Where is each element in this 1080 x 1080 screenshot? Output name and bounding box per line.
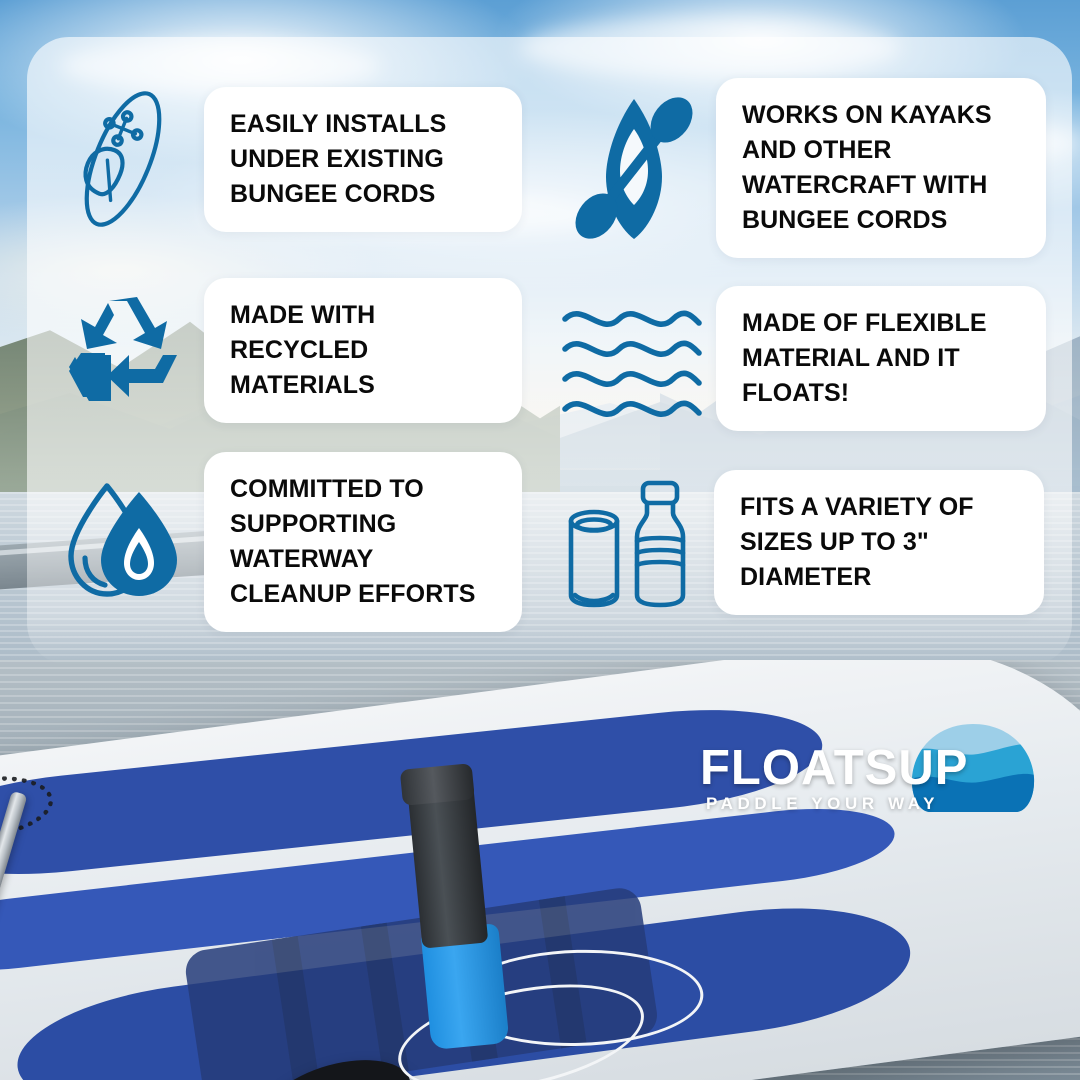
tumbler-lid xyxy=(400,763,475,806)
logo-wordmark: FLOATSUP xyxy=(700,742,1040,794)
logo-name-sup: SUP xyxy=(865,741,969,795)
waves-icon xyxy=(556,299,708,419)
feature-item: EASILY INSTALLS UNDER EXISTING BUNGEE CO… xyxy=(48,84,522,234)
feature-item: MADE WITH RECYCLED MATERIALS xyxy=(48,278,522,423)
feature-card: MADE OF FLEXIBLE MATERIAL AND IT FLOATS! xyxy=(716,286,1046,431)
feature-text: COMMITTED TO SUPPORTING WATERWAY CLEANUP… xyxy=(230,472,496,612)
feature-grid: EASILY INSTALLS UNDER EXISTING BUNGEE CO… xyxy=(0,0,1080,700)
deck-pad-line xyxy=(272,936,320,1080)
can-bottle-icon xyxy=(548,477,708,609)
feature-item: COMMITTED TO SUPPORTING WATERWAY CLEANUP… xyxy=(48,452,522,632)
infographic-canvas: EASILY INSTALLS UNDER EXISTING BUNGEE CO… xyxy=(0,0,1080,1080)
feature-card: FITS A VARIETY OF SIZES UP TO 3" DIAMETE… xyxy=(714,470,1044,615)
paddleboard-icon xyxy=(48,84,198,234)
feature-card: COMMITTED TO SUPPORTING WATERWAY CLEANUP… xyxy=(204,452,522,632)
feature-item: MADE OF FLEXIBLE MATERIAL AND IT FLOATS! xyxy=(556,286,1046,431)
feature-item: FITS A VARIETY OF SIZES UP TO 3" DIAMETE… xyxy=(548,470,1044,615)
feature-card: WORKS ON KAYAKS AND OTHER WATERCRAFT WIT… xyxy=(716,78,1046,258)
feature-item: WORKS ON KAYAKS AND OTHER WATERCRAFT WIT… xyxy=(560,78,1046,258)
feature-text: FITS A VARIETY OF SIZES UP TO 3" DIAMETE… xyxy=(740,490,1018,595)
feature-text: WORKS ON KAYAKS AND OTHER WATERCRAFT WIT… xyxy=(742,98,1020,238)
logo-name-float: FLOAT xyxy=(700,741,865,795)
water-drop-icon xyxy=(48,476,198,608)
feature-card: MADE WITH RECYCLED MATERIALS xyxy=(204,278,522,423)
logo-tagline: PADDLE YOUR WAY xyxy=(706,794,939,814)
feature-text: MADE OF FLEXIBLE MATERIAL AND IT FLOATS! xyxy=(742,306,1020,411)
recycle-icon xyxy=(48,297,198,405)
kayak-paddle-icon xyxy=(560,93,708,243)
feature-text: MADE WITH RECYCLED MATERIALS xyxy=(230,298,496,403)
feature-text: EASILY INSTALLS UNDER EXISTING BUNGEE CO… xyxy=(230,107,496,212)
feature-card: EASILY INSTALLS UNDER EXISTING BUNGEE CO… xyxy=(204,87,522,232)
brand-logo: FLOATSUP PADDLE YOUR WAY xyxy=(700,728,1040,820)
